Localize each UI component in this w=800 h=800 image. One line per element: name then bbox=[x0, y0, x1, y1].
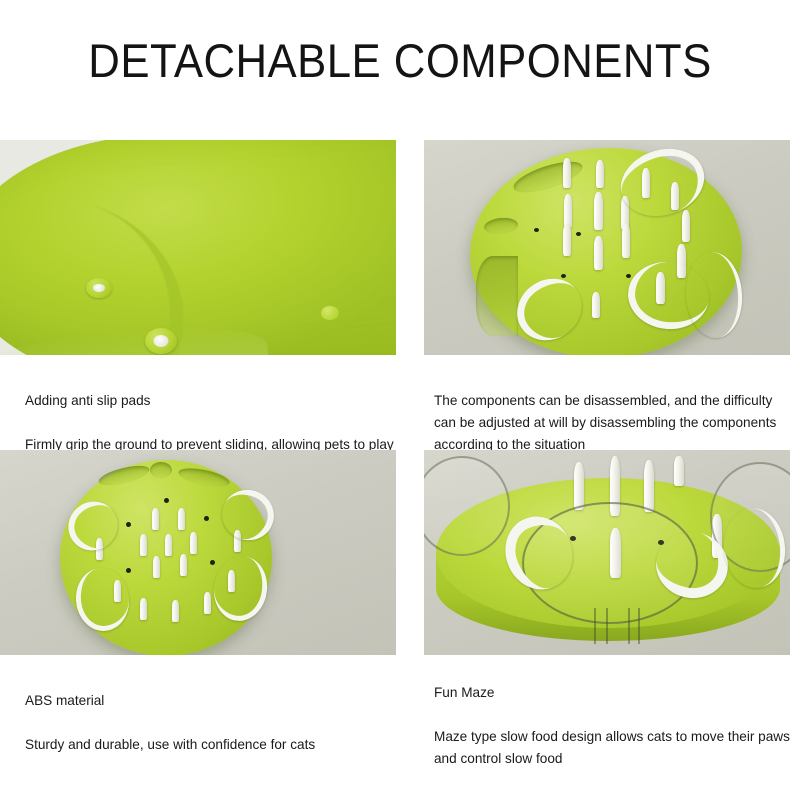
screw-boss bbox=[145, 328, 177, 354]
peg-socket-hole bbox=[126, 522, 131, 527]
peg-socket-hole bbox=[534, 228, 539, 232]
cone-peg bbox=[153, 556, 160, 578]
cone-peg bbox=[682, 210, 690, 242]
caption-body: Sturdy and durable, use with confidence … bbox=[25, 734, 397, 756]
panel-disassembled: The components can be disassembled, and … bbox=[424, 140, 790, 438]
peg-socket-hole bbox=[204, 516, 209, 521]
panel-fun-maze: Fun Maze Maze type slow food design allo… bbox=[424, 450, 790, 730]
peg-socket-hole bbox=[126, 568, 131, 573]
food-groove bbox=[476, 256, 518, 336]
panel-anti-slip: Adding anti slip pads Firmly grip the gr… bbox=[0, 140, 396, 438]
caption-heading: Fun Maze bbox=[434, 682, 790, 704]
cone-peg bbox=[140, 534, 147, 556]
bowl-slit bbox=[594, 608, 596, 644]
caption-heading: ABS material bbox=[25, 690, 397, 712]
bowl-slit bbox=[606, 608, 608, 644]
peg-socket-hole bbox=[576, 232, 581, 236]
panel-abs-material: ABS material Sturdy and durable, use wit… bbox=[0, 450, 396, 730]
cone-peg bbox=[594, 236, 603, 270]
food-groove bbox=[150, 462, 172, 478]
bowl-slit bbox=[638, 608, 640, 644]
boss-hole bbox=[93, 284, 105, 292]
cone-peg bbox=[165, 534, 172, 556]
photo-disassembled-components bbox=[424, 140, 790, 355]
cone-peg bbox=[564, 194, 572, 228]
photo-fun-maze bbox=[424, 450, 790, 655]
peg-socket-hole bbox=[626, 274, 631, 278]
caption-body: Maze type slow food design allows cats t… bbox=[434, 726, 790, 770]
peg-socket-hole bbox=[210, 560, 215, 565]
cone-peg bbox=[596, 160, 604, 188]
molding-nub bbox=[321, 306, 339, 320]
photo-anti-slip-pads bbox=[0, 140, 396, 355]
caption-body: The components can be disassembled, and … bbox=[434, 390, 790, 456]
cone-peg bbox=[190, 532, 197, 554]
cone-peg bbox=[622, 224, 630, 258]
caption-heading: Adding anti slip pads bbox=[25, 390, 397, 412]
peg-socket-hole bbox=[164, 498, 169, 503]
cone-peg bbox=[594, 192, 603, 230]
caption-abs-material: ABS material Sturdy and durable, use wit… bbox=[25, 668, 397, 778]
cone-peg bbox=[574, 462, 584, 510]
cone-peg bbox=[204, 592, 211, 614]
peg-socket-hole bbox=[561, 274, 566, 278]
cone-peg bbox=[563, 158, 571, 188]
screw-boss bbox=[86, 278, 112, 298]
photo-abs-material bbox=[0, 450, 396, 655]
boss-hole bbox=[154, 335, 169, 347]
cone-peg bbox=[644, 460, 654, 512]
cone-peg bbox=[674, 456, 684, 486]
cone-peg bbox=[152, 508, 159, 530]
caption-fun-maze: Fun Maze Maze type slow food design allo… bbox=[434, 660, 790, 792]
cone-peg bbox=[140, 598, 147, 620]
cone-peg bbox=[180, 554, 187, 576]
cone-peg bbox=[178, 508, 185, 530]
bowl-slit bbox=[628, 608, 630, 644]
cone-peg bbox=[563, 224, 571, 256]
cone-peg bbox=[592, 292, 600, 318]
cone-peg bbox=[172, 600, 179, 622]
page-title: DETACHABLE COMPONENTS bbox=[28, 34, 772, 88]
